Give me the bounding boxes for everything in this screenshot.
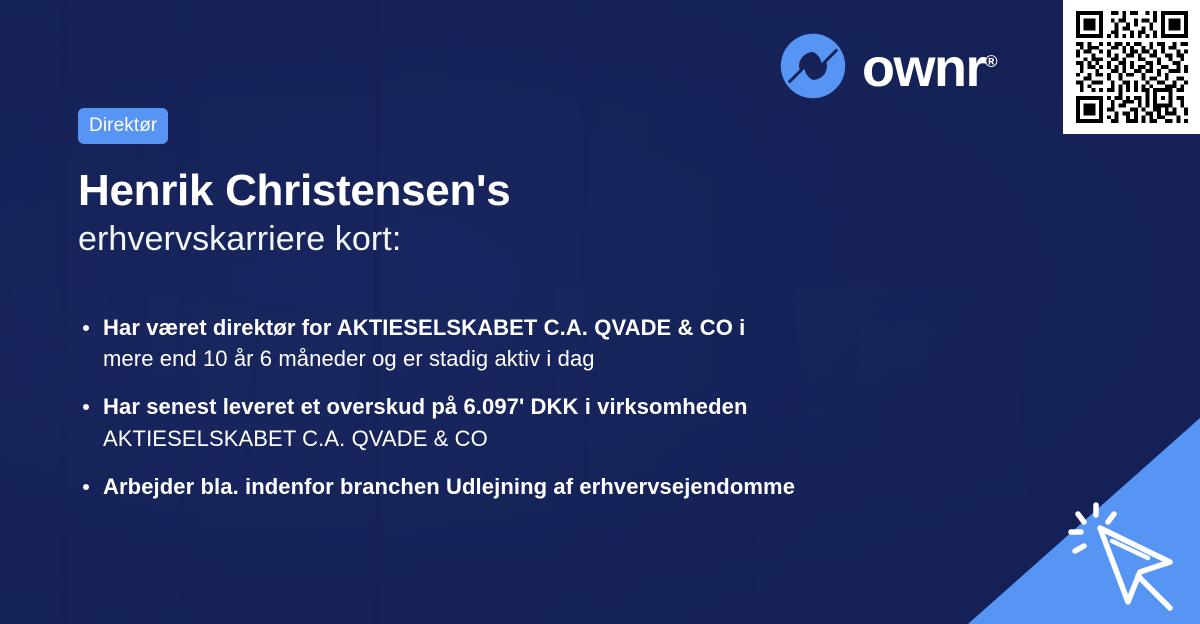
ownr-logo[interactable]: ownr® [778,30,998,102]
click-cursor-icon [1066,498,1186,618]
qr-code-icon[interactable] [1076,11,1188,123]
list-item-line1: Har været direktør for AKTIESELSKABET C.… [103,312,900,343]
ownr-circle-swirl-icon [778,31,848,101]
qr-code-card[interactable] [1063,0,1200,134]
ownr-wordmark-text: ownr [862,38,985,98]
bullet-dot-icon [83,325,89,331]
list-item-line1: Har senest leveret et overskud på 6.097'… [103,391,900,422]
list-item-line2: AKTIESELSKABET C.A. QVADE & CO [103,423,900,454]
list-item: Har senest leveret et overskud på 6.097'… [80,391,900,453]
header-block: Direktør Henrik Christensen's erhvervska… [78,108,920,260]
bullet-dot-icon [83,484,89,490]
bullet-dot-icon [83,404,89,410]
role-badge: Direktør [78,108,168,144]
list-item: Arbejder bla. indenfor branchen Udlejnin… [80,471,900,502]
page-title: Henrik Christensen's [78,166,920,215]
list-item-line1: Arbejder bla. indenfor branchen Udlejnin… [103,471,900,502]
ownr-wordmark: ownr® [862,41,998,95]
list-item-line2: mere end 10 år 6 måneder og er stadig ak… [103,343,900,374]
ownr-career-card: ownr® Direktør Henrik Christensen's erhv… [0,0,1200,624]
list-item: Har været direktør for AKTIESELSKABET C.… [80,312,900,374]
trademark-symbol: ® [985,52,998,71]
career-facts-list: Har været direktør for AKTIESELSKABET C.… [80,312,900,502]
page-subtitle: erhvervskarriere kort: [78,219,920,260]
